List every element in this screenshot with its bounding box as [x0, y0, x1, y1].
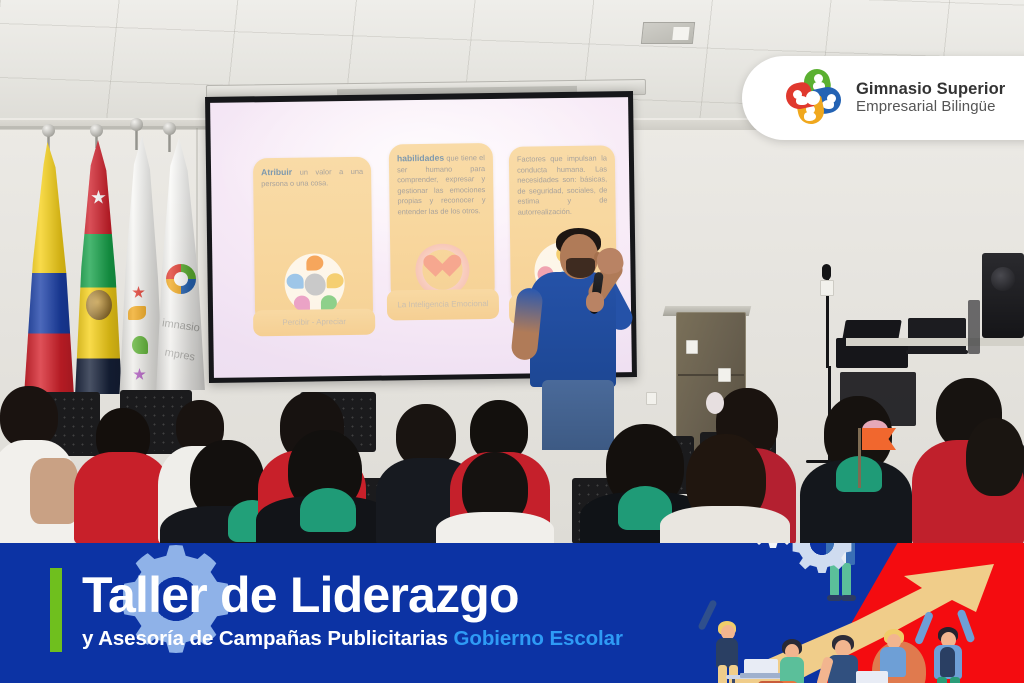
- accent-bar: [50, 568, 62, 652]
- flagpole-finial-3: [130, 118, 143, 131]
- slide-card-1-strong: Atribuir: [261, 167, 292, 177]
- flagpole-finial-2: [90, 124, 103, 137]
- institution-badge: Gimnasio Superior Empresarial Bilingüe: [742, 56, 1024, 140]
- slide-card-1-tag: Percibir - Apreciar: [253, 309, 375, 337]
- loudspeaker: [982, 253, 1024, 338]
- badge-text: Gimnasio Superior Empresarial Bilingüe: [856, 80, 1005, 115]
- slide-card-2-strong: habilidades: [397, 153, 444, 164]
- slide-card-1-text: Atribuir un valor a una persona o una co…: [261, 165, 363, 189]
- slide-card-3-text: Factores que impulsan la conducta humana…: [517, 153, 608, 217]
- banner-subtitle-highlight: Gobierno Escolar: [454, 627, 623, 650]
- slide-card-2: habilidades que tiene el ser humano para…: [389, 143, 495, 302]
- gear-icon: [748, 543, 798, 548]
- side-table: [846, 338, 1024, 346]
- brain-bubbles-icon: [284, 253, 345, 314]
- gimnasio-logo-icon: [784, 69, 842, 127]
- headphone-icon: [706, 392, 724, 414]
- bottom-banner: Taller de Liderazgo y Asesoría de Campañ…: [0, 543, 1024, 683]
- attendee: [966, 418, 1024, 496]
- laptop-icon: [856, 671, 888, 683]
- wall-outlet: [820, 280, 834, 296]
- laptop: [908, 318, 966, 352]
- badge-line-2: Empresarial Bilingüe: [856, 99, 1005, 116]
- flagpole-finial-4: [163, 122, 176, 135]
- flagpole-finial-1: [42, 124, 55, 137]
- banner-subtitle: y Asesoría de Campañas Publicitarias Gob…: [82, 627, 623, 651]
- scarf: [300, 488, 356, 532]
- poster-root: imnasio mpres Atribuir un valor a una pe…: [0, 0, 1024, 683]
- slide-card-2-tag: La Inteligencia Emocional: [387, 289, 499, 321]
- slide-card-3-body: Factores que impulsan la conducta humana…: [517, 153, 608, 216]
- slide-card-1: Atribuir un valor a una persona o una co…: [253, 157, 373, 325]
- microphone-head-icon: [822, 264, 831, 280]
- badge-line-1: Gimnasio Superior: [856, 80, 1005, 98]
- banner-subtitle-plain: y Asesoría de Campañas Publicitarias: [82, 627, 454, 650]
- attendee: [0, 386, 58, 448]
- ceiling-vent-icon: [641, 22, 695, 44]
- banner-title: Taller de Liderazgo: [82, 566, 519, 624]
- slide-card-2-text: habilidades que tiene el ser humano para…: [397, 151, 486, 217]
